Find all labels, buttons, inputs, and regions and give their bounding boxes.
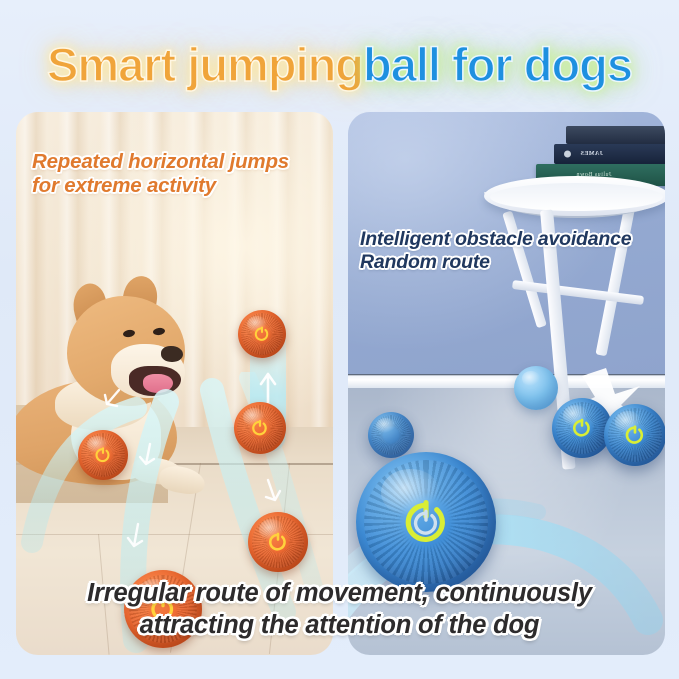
book-item <box>566 126 665 144</box>
orange-ball <box>78 430 128 480</box>
power-button-icon <box>251 419 269 437</box>
ball-highlight <box>376 418 395 434</box>
left-panel-caption: Repeated horizontal jumps for extreme ac… <box>32 150 322 198</box>
orange-ball <box>248 512 308 572</box>
book-decoration <box>564 151 571 158</box>
power-button-icon <box>268 532 288 552</box>
right-panel-caption: Intelligent obstacle avoidance Random ro… <box>360 228 676 274</box>
book-title: JAMES <box>580 151 603 157</box>
ball-highlight <box>522 371 540 386</box>
dog-paw <box>157 463 207 497</box>
power-button-icon <box>254 326 270 342</box>
right-photo-panel: JAMES Julius Bown <box>348 112 665 655</box>
blue-ball <box>604 404 665 466</box>
title-part-2: ball for dogs <box>363 38 632 91</box>
dog-nose <box>161 346 183 362</box>
hero-blue-ball <box>356 452 496 592</box>
blue-ball <box>368 412 414 458</box>
orange-ball <box>234 402 286 454</box>
product-marketing-image: Smart jumpingball for dogs <box>0 0 679 679</box>
table-rim <box>490 183 663 211</box>
orange-ball <box>238 310 286 358</box>
power-button-icon <box>95 447 112 464</box>
bottom-caption: Irregular route of movement, continuousl… <box>0 578 679 641</box>
power-button-icon <box>572 418 592 438</box>
blue-ball <box>552 398 612 458</box>
page-title: Smart jumpingball for dogs <box>0 34 679 96</box>
title-part-1: Smart jumping <box>47 38 363 91</box>
power-button-icon <box>402 498 450 546</box>
power-button-icon <box>624 424 645 445</box>
book-item: JAMES <box>554 144 665 164</box>
light-blue-ball <box>514 366 558 410</box>
